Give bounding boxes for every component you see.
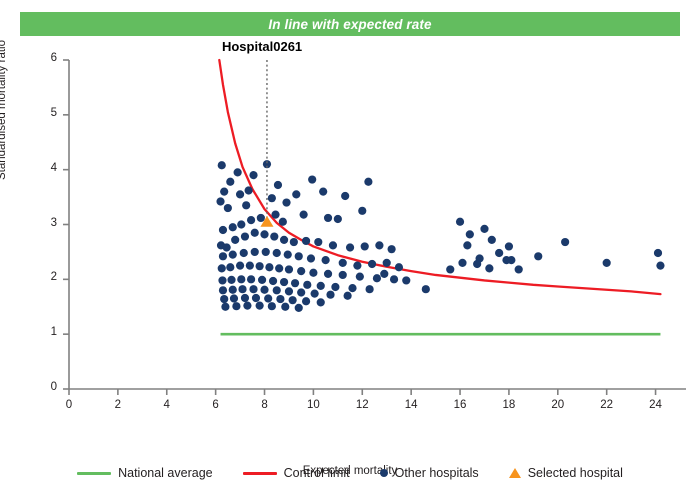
data-point [256,302,264,310]
data-point [348,284,356,292]
data-point [290,238,298,246]
data-point [422,285,430,293]
data-point [240,249,248,257]
data-point [297,267,305,275]
data-point [339,259,347,267]
data-point [276,295,284,303]
data-point [388,245,396,253]
data-point [505,242,513,250]
data-point [463,241,471,249]
x-axis-tick-label: 10 [298,399,328,411]
data-point [247,216,255,224]
chart-legend: National averageControl limitOther hospi… [0,458,700,488]
data-point [232,302,240,310]
status-banner-label: In line with expected rate [268,17,431,32]
line-swatch-icon [243,472,277,475]
x-axis-tick-label: 6 [201,399,231,411]
data-point [275,264,283,272]
data-point [295,252,303,260]
data-point [561,238,569,246]
legend-item-label: Control limit [284,466,350,480]
control-limit-curve [219,60,660,294]
data-point [226,263,234,271]
x-axis-tick-label: 2 [103,399,133,411]
data-point [242,201,250,209]
data-point [402,276,410,284]
data-point [480,225,488,233]
data-point [274,181,282,189]
data-point [264,294,272,302]
funnel-plot: Standardised mortality ratio Expected mo… [0,40,700,450]
data-point [291,279,299,287]
data-point [341,192,349,200]
data-point [223,243,231,251]
data-point [375,241,383,249]
y-axis-title: Standardised mortality ratio [0,10,8,210]
data-point [322,256,330,264]
data-point [245,186,253,194]
data-point [285,287,293,295]
legend-item[interactable]: Selected hospital [509,466,623,480]
x-axis-tick-label: 22 [592,399,622,411]
data-point [466,230,474,238]
data-point [251,229,259,237]
data-point [218,276,226,284]
data-point [247,275,255,283]
x-axis-tick-label: 24 [641,399,671,411]
plot-canvas [0,40,700,450]
data-point [226,178,234,186]
legend-item[interactable]: National average [77,466,213,480]
data-point [236,262,244,270]
data-point [280,236,288,244]
data-point [356,272,364,280]
data-point [331,283,339,291]
data-point [280,278,288,286]
y-axis-tick-label: 1 [31,326,57,338]
data-point [260,230,268,238]
data-point [284,251,292,259]
data-point [366,285,374,293]
data-point [265,263,273,271]
data-point [329,241,337,249]
data-point [270,232,278,240]
data-point [281,303,289,311]
data-point [302,237,310,245]
data-point [218,264,226,272]
data-point [446,265,454,273]
x-axis-tick-label: 18 [494,399,524,411]
x-axis-tick-label: 16 [445,399,475,411]
data-point [485,264,493,272]
triangle-swatch-icon [509,468,521,478]
data-point [271,211,279,219]
data-point [317,282,325,290]
data-point [238,285,246,293]
data-point [317,298,325,306]
data-point [456,218,464,226]
data-point [219,286,227,294]
data-point [219,252,227,260]
data-point [308,175,316,183]
data-point [361,242,369,250]
y-axis-tick-label: 4 [31,162,57,174]
data-point [231,236,239,244]
status-banner: In line with expected rate [20,12,680,36]
data-point [273,286,281,294]
data-point [220,188,228,196]
data-point [515,265,523,273]
x-axis-tick-label: 8 [250,399,280,411]
legend-item-label: National average [118,466,213,480]
data-point [262,248,270,256]
data-point [364,178,372,186]
data-point [495,249,503,257]
data-point [358,207,366,215]
data-point [236,190,244,198]
data-point [319,188,327,196]
data-point [216,197,224,205]
data-point [257,214,265,222]
legend-item[interactable]: Other hospitals [380,466,479,480]
data-point [314,238,322,246]
data-point [221,303,229,311]
x-axis-tick-label: 20 [543,399,573,411]
data-point [243,302,251,310]
data-point [473,260,481,268]
data-point [654,249,662,257]
data-point [251,248,259,256]
data-point [344,292,352,300]
data-point [260,286,268,294]
data-point [230,294,238,302]
y-axis-tick-label: 3 [31,217,57,229]
dot-swatch-icon [380,469,388,477]
data-point [488,236,496,244]
selected-hospital-annotation: Hospital0261 [222,39,302,54]
data-point [246,262,254,270]
data-point [229,223,237,231]
x-axis-tick-label: 4 [152,399,182,411]
data-point [390,275,398,283]
data-point [218,161,226,169]
line-swatch-icon [77,472,111,475]
data-point [241,294,249,302]
data-point [295,304,303,312]
data-point [507,256,515,264]
x-axis-tick-label: 0 [54,399,84,411]
data-point [269,277,277,285]
data-point [249,285,257,293]
data-point [220,295,228,303]
data-point [279,218,287,226]
data-point [252,294,260,302]
data-point [292,190,300,198]
y-axis-tick-label: 6 [31,52,57,64]
data-point [339,271,347,279]
data-point [273,249,281,257]
data-point [282,198,290,206]
data-point [300,211,308,219]
data-point [368,260,376,268]
data-point [353,262,361,270]
data-point [234,168,242,176]
data-point [324,214,332,222]
y-axis-tick-label: 2 [31,271,57,283]
data-point [334,215,342,223]
data-point [227,276,235,284]
data-point [219,226,227,234]
data-point [237,220,245,228]
data-point [289,296,297,304]
chart-page: In line with expected rate Standardised … [0,0,700,500]
x-axis-tick-label: 14 [396,399,426,411]
data-point [346,243,354,251]
data-point [256,262,264,270]
y-axis-tick-label: 0 [31,381,57,393]
data-point [224,204,232,212]
y-axis-tick-label: 5 [31,107,57,119]
data-point [326,291,334,299]
data-point [373,274,381,282]
data-point [229,286,237,294]
data-point [656,262,664,270]
data-point [603,259,611,267]
data-point [258,276,266,284]
data-point [268,302,276,310]
data-point [383,259,391,267]
data-point [249,171,257,179]
legend-item-label: Selected hospital [528,466,623,480]
data-point [302,297,310,305]
data-point [307,254,315,262]
data-point [458,259,466,267]
data-point [324,270,332,278]
data-point [309,269,317,277]
data-point [380,270,388,278]
data-point [311,289,319,297]
data-point [303,281,311,289]
data-point [395,263,403,271]
data-point [229,251,237,259]
x-axis-tick-label: 12 [347,399,377,411]
legend-item[interactable]: Control limit [243,466,350,480]
data-point [241,232,249,240]
data-point [297,288,305,296]
data-point [268,194,276,202]
legend-item-label: Other hospitals [395,466,479,480]
data-point [285,265,293,273]
data-point [534,252,542,260]
data-point [237,275,245,283]
